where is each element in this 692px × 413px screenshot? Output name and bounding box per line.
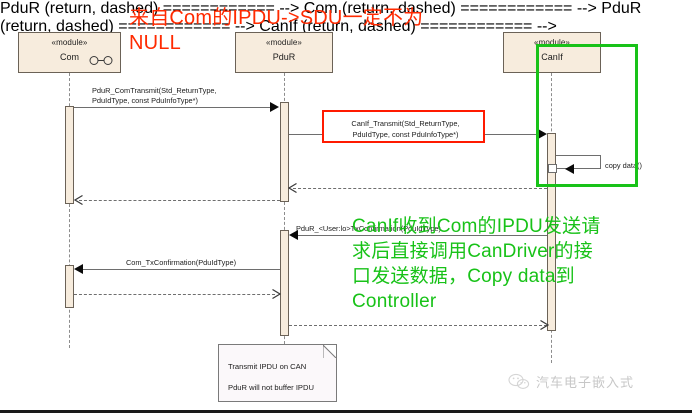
lifeline-header-com[interactable]: «module» Com: [18, 32, 121, 73]
message-label-m1-line1: PduR_ComTransmit(Std_ReturnType,: [92, 86, 217, 96]
self-call-label-m3: copy data(): [605, 161, 642, 170]
message-arrowhead-m1: [270, 102, 279, 112]
activation-bar-pdur-2: [280, 230, 289, 336]
message-line-m8[interactable]: [74, 294, 275, 295]
message-line-m4[interactable]: [293, 188, 547, 189]
watermark: 汽车电子嵌入式: [508, 372, 634, 391]
red-annotation-text: 来自Com的IPDU->SDU一定不为 NULL: [129, 6, 423, 56]
message-arrowhead-m9: [540, 320, 549, 330]
self-call-target-m3: [548, 164, 557, 173]
message-label-m7: Com_TxConfirmation(PduIdType): [82, 258, 280, 268]
message-line-m1[interactable]: [70, 107, 275, 108]
sequence-diagram-canvas: «module» Com «module» PduR «module» CanI…: [0, 0, 692, 413]
message-label-m2-line2: PduIdType, const PduInfoType*): [324, 130, 487, 140]
message-label-m2-line1: CanIf_Transmit(Std_ReturnType,: [324, 119, 487, 129]
message-arrowhead-m5: [74, 195, 83, 205]
green-annotation-text: CanIf收到Com的IPDU发送请 求后直接调用CanDriver的接 口发送…: [352, 214, 601, 314]
note-folded-corner-icon: [323, 345, 336, 358]
activation-bar-com-1: [65, 106, 74, 204]
message-line-m5[interactable]: [79, 200, 280, 201]
activation-bar-com-2: [65, 265, 74, 308]
lifeline-stereotype-canif: «module»: [504, 38, 600, 48]
lifeline-header-canif[interactable]: «module» CanIf: [503, 32, 601, 73]
uml-note[interactable]: Transmit IPDU on CAN PduR will not buffe…: [218, 344, 337, 402]
message-line-m7[interactable]: [83, 269, 280, 270]
message-line-m9[interactable]: [289, 325, 547, 326]
ball-and-socket-icon: [89, 56, 113, 65]
wechat-icon: [508, 373, 530, 391]
message-arrowhead-m4: [288, 183, 297, 193]
message-arrowhead-m8: [272, 289, 281, 299]
self-call-loop-m3[interactable]: [556, 155, 601, 169]
watermark-text: 汽车电子嵌入式: [536, 372, 634, 391]
message-arrowhead-m2: [538, 129, 547, 139]
red-highlight-box: CanIf_Transmit(Std_ReturnType, PduIdType…: [322, 110, 485, 143]
lifeline-name-canif: CanIf: [504, 52, 600, 63]
self-call-arrowhead-m3: [565, 164, 574, 174]
lifeline-stereotype-com: «module»: [19, 38, 120, 48]
note-line-2: PduR will not buffer IPDU: [228, 383, 314, 393]
message-label-m1-line2: PduIdType, const PduInfoType*): [92, 96, 198, 106]
note-line-1: Transmit IPDU on CAN: [228, 362, 306, 372]
